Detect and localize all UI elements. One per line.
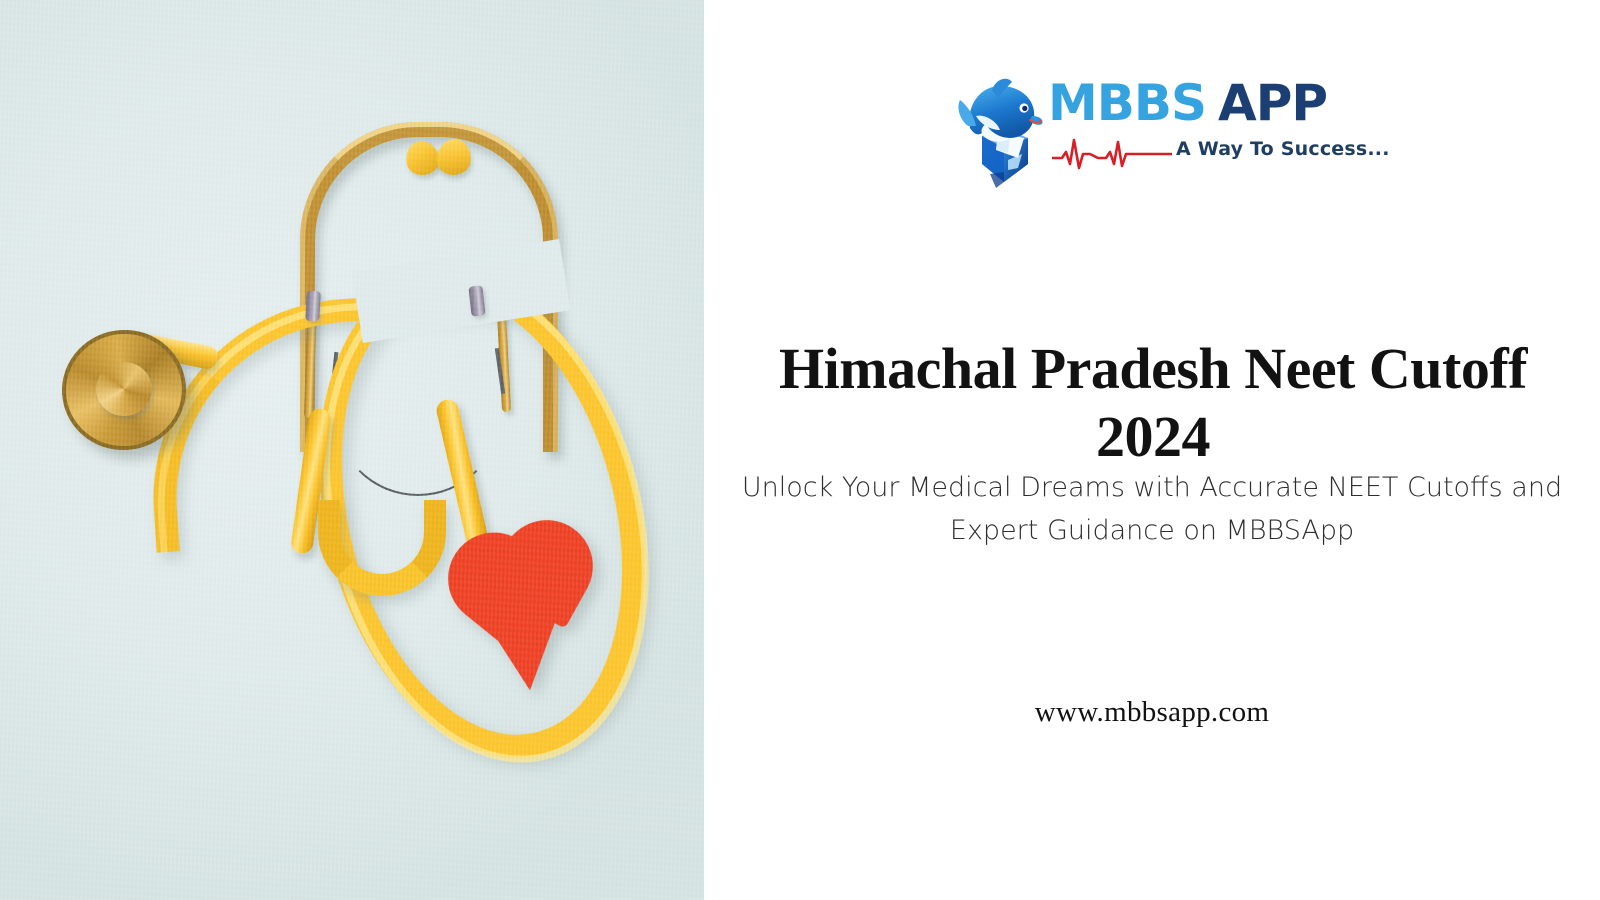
- stethoscope-connector-sleeve-left: [305, 291, 321, 322]
- heartbeat-ecg-icon: [1052, 136, 1172, 170]
- paper-heart-icon: [441, 517, 608, 684]
- logo-tagline: A Way To Success...: [1176, 138, 1390, 160]
- content-panel: MBBSAPP A Way To Success... Himachal Pra…: [704, 0, 1600, 900]
- promotional-banner: MBBSAPP A Way To Success... Himachal Pra…: [0, 0, 1600, 900]
- stethoscope-with-paper-heart-photo: [0, 0, 704, 900]
- website-url[interactable]: www.mbbsapp.com: [740, 696, 1564, 729]
- stethoscope-chestpiece-hub: [96, 362, 152, 416]
- brand-logo[interactable]: MBBSAPP A Way To Success...: [952, 72, 1312, 190]
- dolphin-on-crystal-icon: [952, 76, 1048, 188]
- logo-text-row: MBBSAPP: [1048, 78, 1327, 128]
- logo-text-mbbs: MBBS: [1048, 74, 1206, 132]
- logo-text-app: APP: [1218, 74, 1327, 132]
- stethoscope-connector-sleeve-right: [468, 285, 485, 316]
- page-title: Himachal Pradesh Neet Cutoff 2024: [758, 335, 1548, 472]
- logo-wordmark: MBBSAPP A Way To Success...: [1048, 78, 1312, 190]
- page-subtitle: Unlock Your Medical Dreams with Accurate…: [740, 467, 1564, 552]
